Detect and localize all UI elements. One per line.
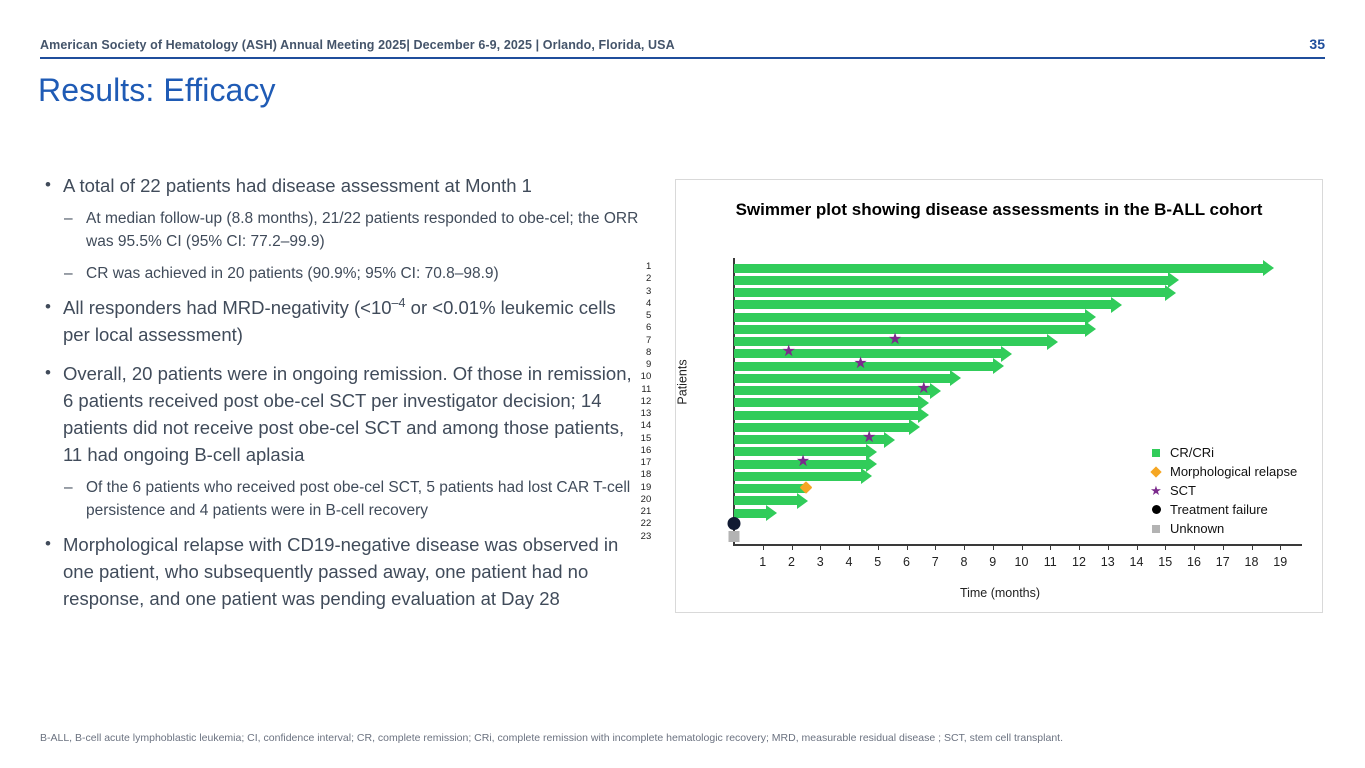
bullet-item: Morphological relapse with CD19-negative…: [42, 531, 642, 612]
swimmer-bar-row[interactable]: 1: [734, 262, 1303, 274]
x-tick: [820, 544, 821, 550]
header-divider: [40, 57, 1325, 59]
legend-marker-square-icon: [1148, 525, 1164, 533]
swimmer-bar-row[interactable]: 2: [734, 274, 1303, 286]
bar-segment-cr-cri: [734, 398, 918, 407]
x-tick: [1050, 544, 1051, 550]
x-axis-label: Time (months): [676, 586, 1324, 600]
bar-segment-cr-cri: [734, 484, 806, 493]
y-tick-label: 20: [611, 494, 651, 505]
x-tick-label: 6: [903, 555, 910, 569]
sub-bullet-item: At median follow-up (8.8 months), 21/22 …: [42, 207, 642, 253]
x-tick-label: 16: [1187, 555, 1201, 569]
mrd-text-pre: All responders had MRD-negativity (<10: [63, 297, 392, 318]
x-tick: [964, 544, 965, 550]
x-tick: [1223, 544, 1224, 550]
legend-label: Morphological relapse: [1170, 464, 1297, 479]
swimmer-plot-area: Patients 12345678910111213141516171819 1…: [676, 180, 1324, 614]
y-tick-label: 9: [611, 359, 651, 370]
y-tick-label: 19: [611, 482, 651, 493]
bar-segment-cr-cri: [734, 509, 766, 518]
legend-label: CR/CRi: [1170, 445, 1214, 460]
swimmer-bar-row[interactable]: 8★: [734, 348, 1303, 360]
x-tick: [849, 544, 850, 550]
y-tick-label: 16: [611, 445, 651, 456]
sct-star-icon: ★: [781, 344, 795, 360]
x-tick: [792, 544, 793, 550]
page-number: 35: [1309, 36, 1325, 52]
x-tick-label: 11: [1044, 555, 1057, 569]
y-tick-label: 12: [611, 396, 651, 407]
x-tick-label: 5: [874, 555, 881, 569]
swimmer-plot-panel: Swimmer plot showing disease assessments…: [675, 179, 1323, 613]
swimmer-bar-row[interactable]: 12: [734, 397, 1303, 409]
spacer: [42, 351, 642, 360]
bar-segment-cr-cri: [734, 288, 1165, 297]
swimmer-bar-row[interactable]: 9★: [734, 360, 1303, 372]
x-tick: [1108, 544, 1109, 550]
x-tick-label: 2: [788, 555, 795, 569]
x-tick-label: 12: [1072, 555, 1086, 569]
swimmer-bar-row[interactable]: 6: [734, 323, 1303, 335]
x-tick: [763, 544, 764, 550]
footnote: B-ALL, B-cell acute lymphoblastic leukem…: [40, 731, 1320, 745]
x-tick-label: 14: [1130, 555, 1144, 569]
bar-segment-cr-cri: [734, 313, 1085, 322]
legend-item[interactable]: ★SCT: [1148, 481, 1297, 500]
x-tick-label: 1: [759, 555, 766, 569]
x-tick-label: 8: [961, 555, 968, 569]
x-tick: [935, 544, 936, 550]
y-axis-label: Patients: [676, 359, 690, 404]
swimmer-bar-row[interactable]: 4: [734, 299, 1303, 311]
sub-bullet-item: CR was achieved in 20 patients (90.9%; 9…: [42, 262, 642, 285]
swimmer-bar-row[interactable]: 5: [734, 311, 1303, 323]
legend-label: Unknown: [1170, 521, 1224, 536]
bar-segment-cr-cri: [734, 496, 797, 505]
swimmer-bar-row[interactable]: 7★: [734, 336, 1303, 348]
x-tick-label: 7: [932, 555, 939, 569]
y-tick-label: 5: [611, 310, 651, 321]
bullet-item: Overall, 20 patients were in ongoing rem…: [42, 360, 642, 468]
y-tick-label: 11: [611, 384, 651, 395]
swimmer-bar-row[interactable]: 10: [734, 372, 1303, 384]
x-axis-line: [733, 544, 1302, 546]
header-row: American Society of Hematology (ASH) Ann…: [40, 36, 1325, 57]
bar-segment-cr-cri: [734, 472, 861, 481]
legend-item[interactable]: Treatment failure: [1148, 500, 1297, 519]
y-tick-label: 3: [611, 286, 651, 297]
swimmer-bar-row[interactable]: 14: [734, 421, 1303, 433]
unknown-square-icon: [729, 531, 740, 542]
sct-star-icon: ★: [888, 332, 902, 348]
swimmer-bar-row[interactable]: 3: [734, 287, 1303, 299]
y-tick-label: 7: [611, 335, 651, 346]
legend-marker-star-icon: ★: [1148, 484, 1164, 497]
x-tick-label: 15: [1158, 555, 1172, 569]
conference-info: American Society of Hematology (ASH) Ann…: [40, 38, 675, 52]
legend-marker-square-icon: [1148, 449, 1164, 457]
x-tick-label: 4: [846, 555, 853, 569]
legend-label: Treatment failure: [1170, 502, 1268, 517]
x-tick-label: 3: [817, 555, 824, 569]
bullet-item-mrd: All responders had MRD-negativity (<10–4…: [42, 294, 642, 348]
swimmer-bar-row[interactable]: 13: [734, 409, 1303, 421]
y-tick-label: 22: [611, 518, 651, 529]
x-tick: [1022, 544, 1023, 550]
x-tick: [1079, 544, 1080, 550]
x-tick: [1137, 544, 1138, 550]
bar-segment-cr-cri: [734, 325, 1085, 334]
x-tick-label: 19: [1273, 555, 1287, 569]
y-tick-label: 18: [611, 469, 651, 480]
x-tick-label: 10: [1015, 555, 1029, 569]
y-tick-label: 6: [611, 322, 651, 333]
sub-bullet-item: Of the 6 patients who received post obe-…: [42, 476, 642, 522]
bar-segment-cr-cri: [734, 349, 1001, 358]
x-tick: [1280, 544, 1281, 550]
content-bullets: A total of 22 patients had disease asses…: [42, 172, 642, 615]
sct-star-icon: ★: [796, 454, 810, 470]
bar-segment-cr-cri: [734, 386, 930, 395]
legend-label: SCT: [1170, 483, 1196, 498]
x-tick: [1165, 544, 1166, 550]
x-tick-label: 17: [1216, 555, 1230, 569]
chart-legend: CR/CRiMorphological relapse★SCTTreatment…: [1148, 443, 1297, 538]
sct-star-icon: ★: [853, 356, 867, 372]
legend-marker-diamond-icon: [1148, 468, 1164, 476]
y-tick-label: 13: [611, 408, 651, 419]
bar-segment-cr-cri: [734, 411, 918, 420]
y-tick-label: 23: [611, 531, 651, 542]
x-tick: [993, 544, 994, 550]
x-tick: [878, 544, 879, 550]
bullet-item: A total of 22 patients had disease asses…: [42, 172, 642, 199]
bar-segment-cr-cri: [734, 276, 1168, 285]
legend-item[interactable]: CR/CRi: [1148, 443, 1297, 462]
y-tick-label: 21: [611, 506, 651, 517]
legend-item[interactable]: Unknown: [1148, 519, 1297, 538]
y-tick-label: 2: [611, 273, 651, 284]
y-tick-label: 10: [611, 371, 651, 382]
y-tick-label: 17: [611, 457, 651, 468]
treatment-failure-circle-icon: [728, 517, 741, 530]
x-tick: [907, 544, 908, 550]
y-tick-label: 1: [611, 261, 651, 272]
bar-segment-cr-cri: [734, 423, 909, 432]
slide-header: American Society of Hematology (ASH) Ann…: [40, 36, 1325, 59]
y-tick-label: 15: [611, 433, 651, 444]
x-tick: [1194, 544, 1195, 550]
x-tick-label: 18: [1245, 555, 1259, 569]
page-title: Results: Efficacy: [38, 72, 276, 109]
y-tick-label: 4: [611, 298, 651, 309]
legend-item[interactable]: Morphological relapse: [1148, 462, 1297, 481]
mrd-exponent: –4: [392, 296, 406, 310]
bar-segment-cr-cri: [734, 300, 1111, 309]
x-tick: [1252, 544, 1253, 550]
y-tick-label: 8: [611, 347, 651, 358]
x-tick-label: 13: [1101, 555, 1115, 569]
swimmer-bar-row[interactable]: 11★: [734, 385, 1303, 397]
x-tick-label: 9: [989, 555, 996, 569]
y-tick-label: 14: [611, 420, 651, 431]
bar-segment-cr-cri: [734, 264, 1263, 273]
legend-marker-circle-icon: [1148, 505, 1164, 514]
